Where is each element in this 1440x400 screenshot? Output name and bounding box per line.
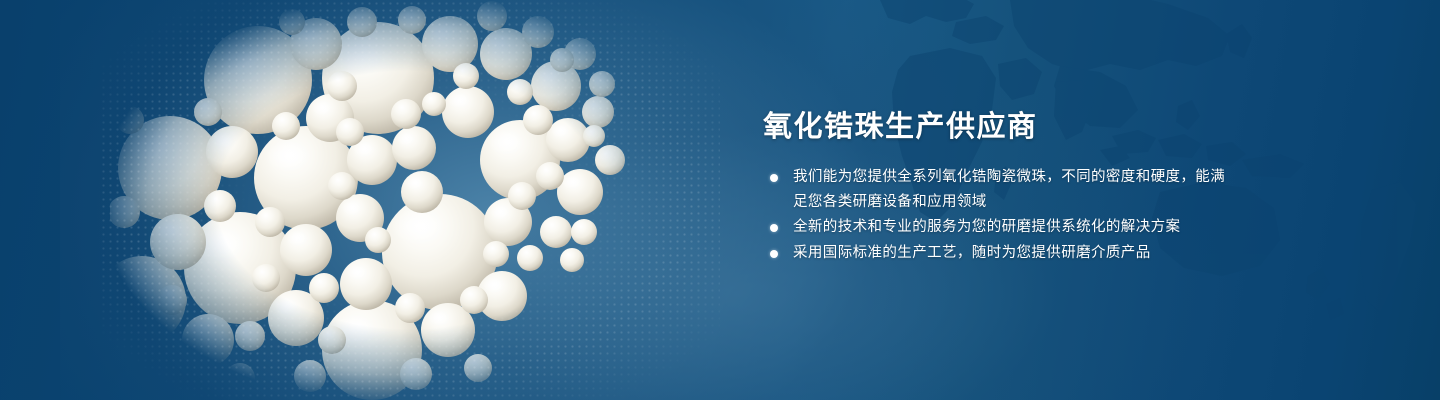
banner-copy: 氧化锆珠生产供应商 我们能为您提供全系列氧化锆陶瓷微珠，不同的密度和硬度，能满足… xyxy=(763,108,1233,265)
list-item-label: 全新的技术和专业的服务为您的研磨提供系统化的解决方案 xyxy=(793,219,1180,235)
list-item: 采用国际标准的生产工艺，随时为您提供研磨介质产品 xyxy=(763,241,1233,266)
dot-bullet-icon xyxy=(770,250,778,258)
page-title: 氧化锆珠生产供应商 xyxy=(763,108,1233,146)
list-item-label: 我们能为您提供全系列氧化锆陶瓷微珠，不同的密度和硬度，能满足您各类研磨设备和应用… xyxy=(793,169,1225,210)
hero-banner: 氧化锆珠生产供应商 我们能为您提供全系列氧化锆陶瓷微珠，不同的密度和硬度，能满足… xyxy=(0,0,1440,400)
list-item: 我们能为您提供全系列氧化锆陶瓷微珠，不同的密度和硬度，能满足您各类研磨设备和应用… xyxy=(763,165,1233,214)
zirconia-beads-photo xyxy=(110,0,710,400)
list-item-label: 采用国际标准的生产工艺，随时为您提供研磨介质产品 xyxy=(793,245,1151,261)
dot-bullet-icon xyxy=(770,224,778,232)
dot-bullet-icon xyxy=(770,174,778,182)
feature-bullet-list: 我们能为您提供全系列氧化锆陶瓷微珠，不同的密度和硬度，能满足您各类研磨设备和应用… xyxy=(763,165,1233,265)
list-item: 全新的技术和专业的服务为您的研磨提供系统化的解决方案 xyxy=(763,215,1233,240)
